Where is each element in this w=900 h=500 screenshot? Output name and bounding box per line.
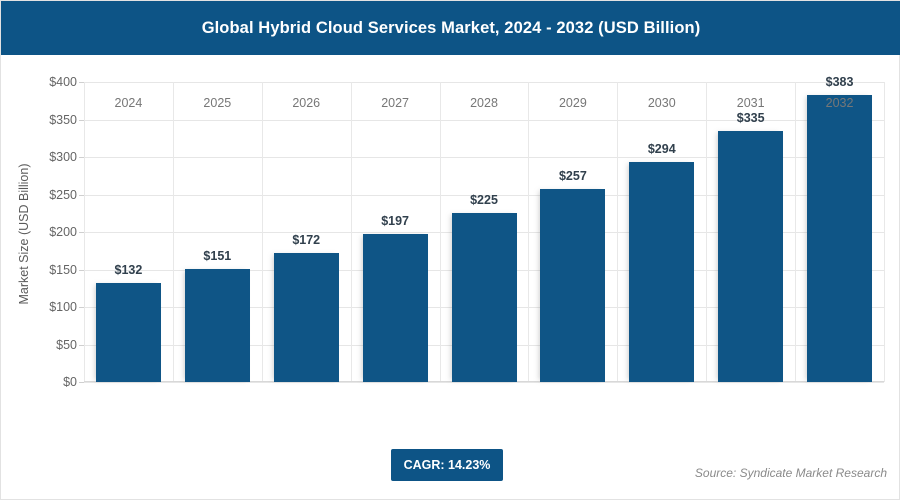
- bar-group: $2942030: [629, 82, 694, 382]
- source-attribution: Source: Syndicate Market Research: [695, 466, 887, 480]
- bar[interactable]: [540, 189, 605, 382]
- bar-value-label: $132: [115, 263, 143, 277]
- chart-canvas: Market Size (USD Billion) $0$50$100$150$…: [1, 55, 899, 499]
- bar[interactable]: [363, 234, 428, 382]
- bar[interactable]: [185, 269, 250, 382]
- bar[interactable]: [629, 162, 694, 383]
- y-axis-tick-mark: [79, 345, 84, 346]
- bar-group: $2572029: [540, 82, 605, 382]
- bar-group: $1322024: [96, 82, 161, 382]
- y-axis-tick-label: $350: [49, 113, 77, 127]
- chart-page: Global Hybrid Cloud Services Market, 202…: [0, 0, 900, 500]
- bar-group: $3832032: [807, 82, 872, 382]
- bar[interactable]: [274, 253, 339, 382]
- gridline-horizontal: [84, 382, 884, 383]
- gridline-vertical: [84, 82, 85, 382]
- bar-group: $1512025: [185, 82, 250, 382]
- bar-value-label: $383: [826, 75, 854, 89]
- y-axis-tick-label: $250: [49, 188, 77, 202]
- bar[interactable]: [718, 131, 783, 382]
- x-axis-tick-label: 2025: [203, 96, 231, 110]
- bar-group: $3352031: [718, 82, 783, 382]
- gridline-vertical: [528, 82, 529, 382]
- y-axis-tick-label: $0: [63, 375, 77, 389]
- chart-header: Global Hybrid Cloud Services Market, 202…: [1, 1, 900, 55]
- bar-value-label: $294: [648, 142, 676, 156]
- bar-value-label: $225: [470, 193, 498, 207]
- gridline-vertical: [617, 82, 618, 382]
- page-title: Global Hybrid Cloud Services Market, 202…: [202, 19, 701, 38]
- bar[interactable]: [807, 95, 872, 382]
- x-axis-tick-label: 2027: [381, 96, 409, 110]
- y-axis-tick-mark: [79, 307, 84, 308]
- plot-area: $0$50$100$150$200$250$300$350$400 $13220…: [84, 82, 884, 382]
- x-axis-tick-label: 2032: [826, 96, 854, 110]
- bar[interactable]: [96, 283, 161, 382]
- x-axis-tick-label: 2028: [470, 96, 498, 110]
- gridline-vertical: [795, 82, 796, 382]
- bar-value-label: $257: [559, 169, 587, 183]
- y-axis-tick-label: $50: [56, 338, 77, 352]
- x-axis-tick-label: 2029: [559, 96, 587, 110]
- x-axis-tick-label: 2026: [292, 96, 320, 110]
- y-axis-tick-mark: [79, 195, 84, 196]
- bar-value-label: $151: [203, 249, 231, 263]
- gridline-vertical: [440, 82, 441, 382]
- x-axis-tick-label: 2030: [648, 96, 676, 110]
- gridline-vertical: [262, 82, 263, 382]
- gridline-vertical: [706, 82, 707, 382]
- bar-group: $1722026: [274, 82, 339, 382]
- gridline-vertical: [351, 82, 352, 382]
- bar-group: $2252028: [452, 82, 517, 382]
- bar-value-label: $335: [737, 111, 765, 125]
- y-axis-tick-mark: [79, 120, 84, 121]
- y-axis-tick-label: $300: [49, 150, 77, 164]
- gridline-vertical: [173, 82, 174, 382]
- bar-value-label: $172: [292, 233, 320, 247]
- cagr-badge-label: CAGR: 14.23%: [404, 458, 491, 472]
- bar-group: $1972027: [363, 82, 428, 382]
- x-axis-tick-label: 2031: [737, 96, 765, 110]
- gridline-vertical: [884, 82, 885, 382]
- y-axis-tick-mark: [79, 157, 84, 158]
- y-axis-title: Market Size (USD Billion): [17, 134, 31, 334]
- y-axis-tick-mark: [79, 270, 84, 271]
- x-axis-tick-label: 2024: [115, 96, 143, 110]
- y-axis-tick-mark: [79, 82, 84, 83]
- y-axis-tick-mark: [79, 382, 84, 383]
- y-axis-tick-label: $100: [49, 300, 77, 314]
- bar-value-label: $197: [381, 214, 409, 228]
- y-axis-tick-label: $200: [49, 225, 77, 239]
- cagr-badge: CAGR: 14.23%: [391, 449, 503, 481]
- bar[interactable]: [452, 213, 517, 382]
- y-axis-tick-label: $400: [49, 75, 77, 89]
- y-axis-tick-mark: [79, 232, 84, 233]
- y-axis-tick-label: $150: [49, 263, 77, 277]
